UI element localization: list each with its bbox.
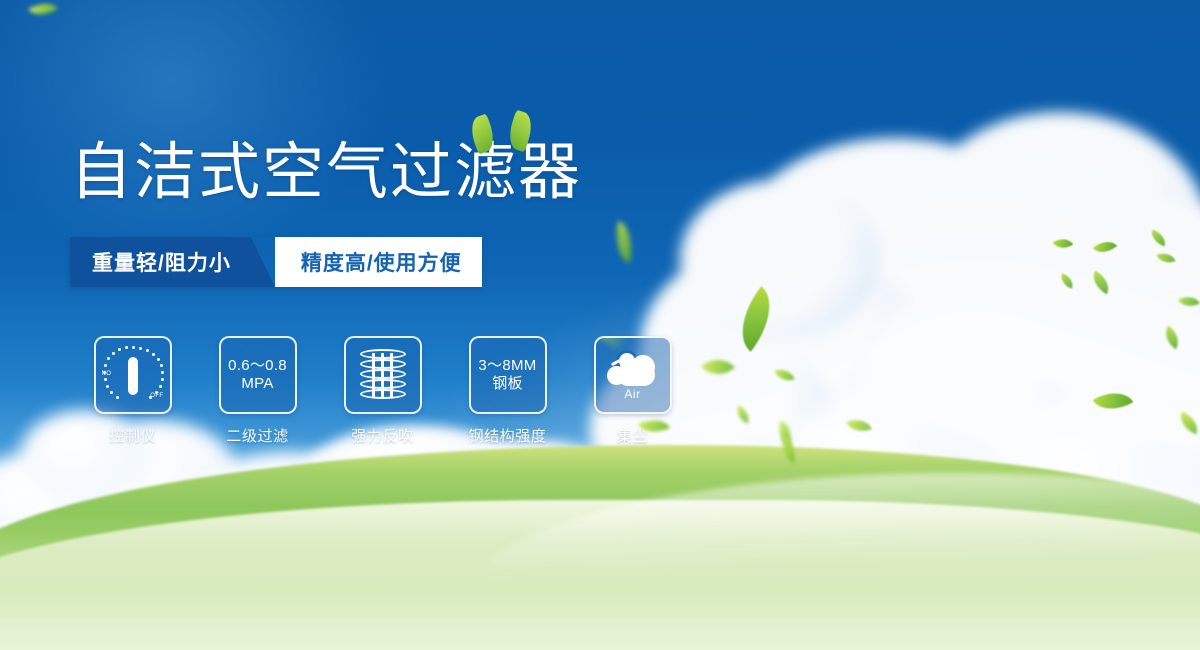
feature-label: 二级过滤 — [226, 425, 288, 446]
tag-diagonal-separator — [251, 237, 275, 287]
feature-label: 集尘 — [617, 425, 648, 446]
filter-cartridge-icon — [344, 336, 422, 414]
tag-precision-convenience: 精度高/使用方便 — [275, 237, 482, 287]
dial-off-label: OFF — [150, 393, 163, 399]
tag-label: 精度高/使用方便 — [301, 247, 462, 277]
tag-label: 重量轻/阻力小 — [92, 247, 231, 277]
feature-item-backblow[interactable]: 强力反吹 — [320, 336, 445, 446]
feature-item-dust-collection[interactable]: Air 集尘 — [570, 336, 695, 446]
feature-label: 钢结构强度 — [468, 425, 546, 446]
meadow-haze — [0, 530, 1200, 650]
feature-label: 控制仪 — [109, 425, 156, 446]
feature-list: NO OFF 控制仪 0.6～0.8 MPA 二级过滤 — [70, 336, 695, 446]
title-sprout-leaves-icon — [470, 110, 540, 156]
pressure-value: 0.6～0.8 MPA — [228, 357, 287, 392]
pressure-text-icon: 0.6～0.8 MPA — [219, 336, 297, 414]
pressure-range: 0.6～0.8 — [228, 357, 287, 374]
feature-item-controller[interactable]: NO OFF 控制仪 — [70, 336, 195, 446]
steel-thickness: 3～8MM — [478, 357, 536, 374]
dial-graphic: NO OFF — [103, 345, 163, 405]
steel-plate-value: 3～8MM 钢板 — [478, 357, 536, 392]
air-label: Air — [605, 387, 661, 401]
cartridge-graphic — [360, 349, 406, 401]
air-cloud-icon: Air — [594, 336, 672, 414]
feature-label: 强力反吹 — [351, 425, 413, 446]
hero-banner: 自洁式空气过滤器 重量轻/阻力小 精度高/使用方便 — [0, 0, 1200, 650]
green-meadow — [0, 410, 1200, 650]
pressure-unit: MPA — [228, 375, 287, 393]
feature-tag-bar: 重量轻/阻力小 精度高/使用方便 — [70, 237, 482, 287]
feature-item-secondary-filtration[interactable]: 0.6～0.8 MPA 二级过滤 — [195, 336, 320, 446]
steel-plate-text-icon: 3～8MM 钢板 — [469, 336, 547, 414]
steel-material: 钢板 — [478, 375, 536, 393]
dial-no-label: NO — [102, 371, 112, 377]
feature-item-steel-strength[interactable]: 3～8MM 钢板 钢结构强度 — [445, 336, 570, 446]
light-beam-decoration — [594, 336, 631, 353]
cloud-graphic: Air — [605, 352, 661, 398]
tag-weight-resistance: 重量轻/阻力小 — [70, 237, 251, 287]
control-dial-icon: NO OFF — [94, 336, 172, 414]
